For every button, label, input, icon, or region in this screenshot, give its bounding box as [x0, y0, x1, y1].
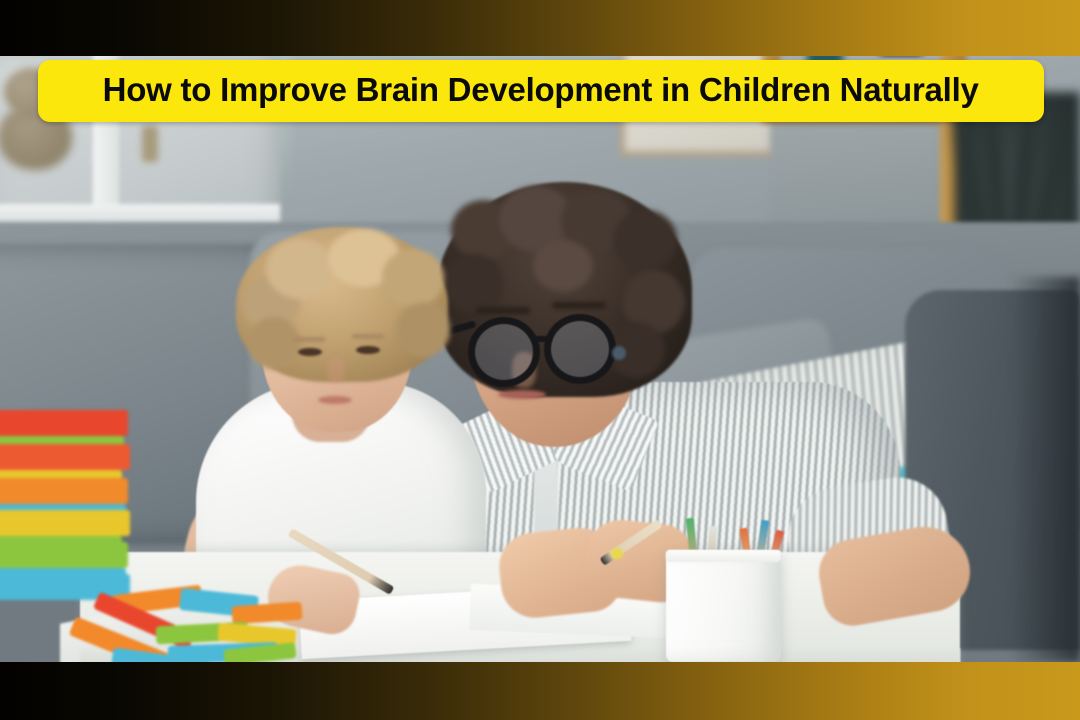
adult-eyebrow-right — [552, 302, 606, 309]
child-eye-right — [356, 346, 380, 354]
toy-block-tower — [0, 410, 148, 610]
sofa-shadow — [1010, 277, 1080, 662]
child-eye-left — [298, 348, 322, 356]
child-nose — [327, 357, 345, 383]
child-eyebrow-left — [293, 337, 325, 342]
page-title: How to Improve Brain Development in Chil… — [103, 74, 979, 108]
eyeglasses-bridge — [536, 336, 552, 342]
adult-mouth — [498, 390, 546, 399]
scattered-toy-blocks — [72, 590, 292, 668]
bottom-gold-border — [0, 662, 1080, 720]
eyeglasses-right-lens — [544, 314, 616, 384]
top-gold-border — [0, 0, 1080, 56]
eyeglasses-left-lens — [468, 317, 540, 387]
earring — [612, 346, 626, 360]
pencil-tip-yellow — [611, 548, 623, 559]
pencil-cup — [666, 550, 781, 662]
article-photo — [0, 52, 1080, 668]
article-thumbnail-card: How to Improve Brain Development in Chil… — [0, 0, 1080, 720]
pencil-cup-rim — [666, 550, 781, 562]
title-banner: How to Improve Brain Development in Chil… — [38, 60, 1044, 122]
shelf-small-object — [142, 126, 158, 162]
child-mouth — [318, 396, 352, 404]
adult-eyebrow-left — [476, 307, 530, 314]
child-eyebrow-right — [352, 334, 384, 339]
